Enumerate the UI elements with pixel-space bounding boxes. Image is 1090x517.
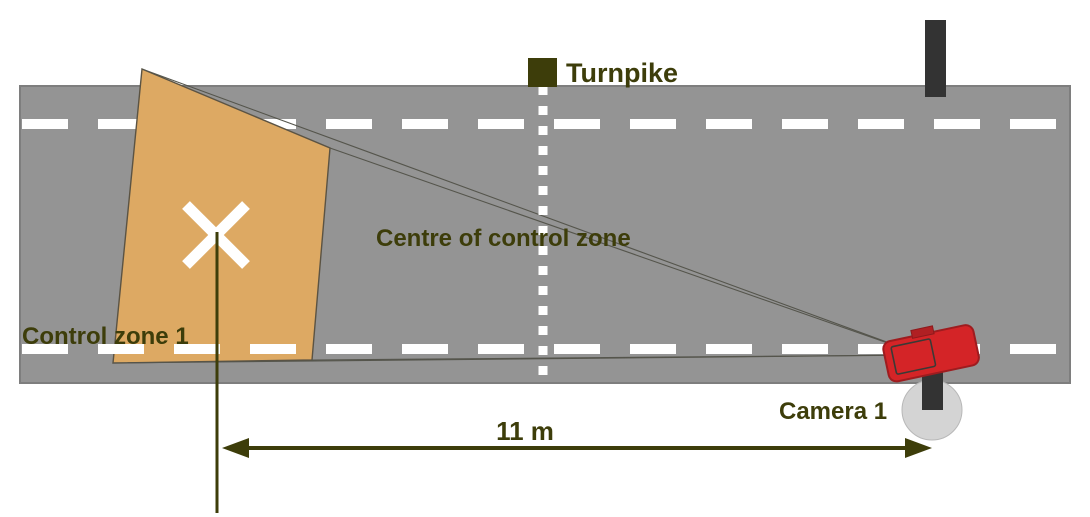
label-control-zone-1: Control zone 1 — [22, 323, 189, 350]
gantry-pole-icon — [925, 20, 946, 97]
diagram-canvas: Turnpike Centre of control zone Control … — [0, 0, 1090, 517]
label-turnpike: Turnpike — [566, 58, 678, 88]
label-distance-11m: 11 m — [496, 416, 554, 446]
distance-dimension-arrow — [222, 438, 932, 458]
label-centre-of-control-zone: Centre of control zone — [376, 225, 631, 252]
label-camera-1: Camera 1 — [779, 398, 887, 425]
turnpike-marker-icon — [528, 58, 557, 87]
road-scene-svg: Turnpike Centre of control zone Control … — [0, 0, 1090, 517]
